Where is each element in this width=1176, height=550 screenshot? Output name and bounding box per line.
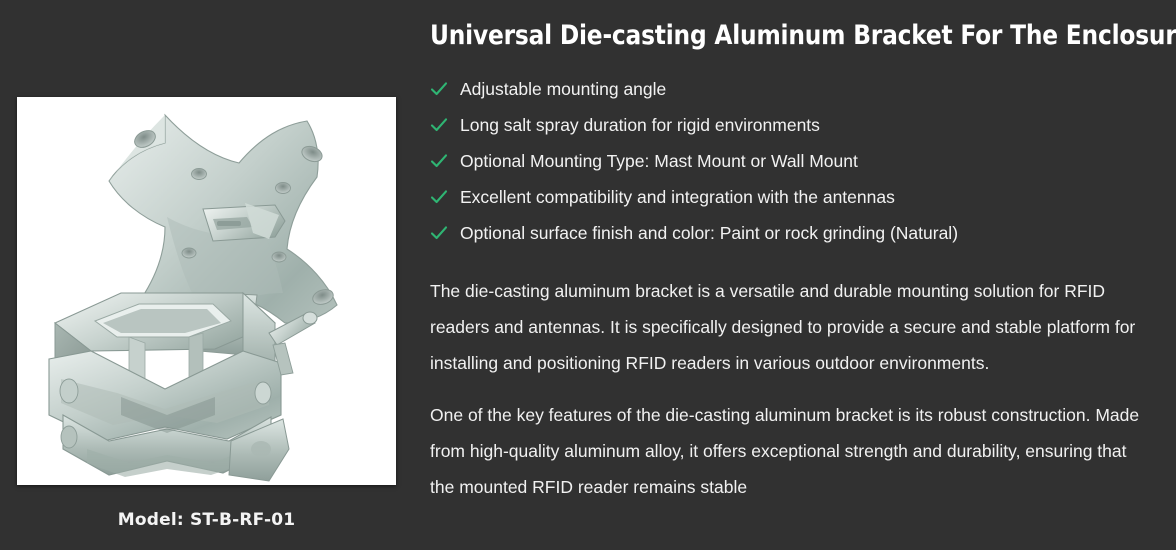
- feature-list: Adjustable mounting angle Long salt spra…: [430, 71, 1152, 251]
- check-icon: [430, 188, 454, 206]
- check-icon: [430, 80, 454, 98]
- list-item: Optional Mounting Type: Mast Mount or Wa…: [430, 143, 1152, 179]
- list-item: Optional surface finish and color: Paint…: [430, 215, 1152, 251]
- list-item-label: Long salt spray duration for rigid envir…: [460, 115, 820, 136]
- check-icon: [430, 116, 454, 134]
- list-item-label: Optional surface finish and color: Paint…: [460, 223, 958, 244]
- product-image-panel[interactable]: [17, 97, 396, 485]
- model-caption: Model: ST-B-RF-01: [17, 510, 396, 530]
- list-item-label: Adjustable mounting angle: [460, 79, 666, 100]
- list-item-label: Excellent compatibility and integration …: [460, 187, 895, 208]
- product-detail-page: Model: ST-B-RF-01 Universal Die-casting …: [0, 0, 1176, 550]
- list-item: Excellent compatibility and integration …: [430, 179, 1152, 215]
- check-icon: [430, 224, 454, 242]
- tilt-knuckle: [203, 203, 285, 241]
- list-item-label: Optional Mounting Type: Mast Mount or Wa…: [460, 151, 858, 172]
- description-paragraph: One of the key features of the die-casti…: [430, 397, 1152, 505]
- page-title: Universal Die-casting Aluminum Bracket F…: [430, 20, 1123, 51]
- product-photo: [17, 97, 396, 485]
- product-info-column: Universal Die-casting Aluminum Bracket F…: [413, 0, 1176, 550]
- check-icon: [430, 152, 454, 170]
- list-item: Long salt spray duration for rigid envir…: [430, 107, 1152, 143]
- list-item: Adjustable mounting angle: [430, 71, 1152, 107]
- description-body: The die-casting aluminum bracket is a ve…: [430, 273, 1152, 505]
- product-image-column: Model: ST-B-RF-01: [0, 0, 413, 550]
- description-paragraph: The die-casting aluminum bracket is a ve…: [430, 273, 1152, 381]
